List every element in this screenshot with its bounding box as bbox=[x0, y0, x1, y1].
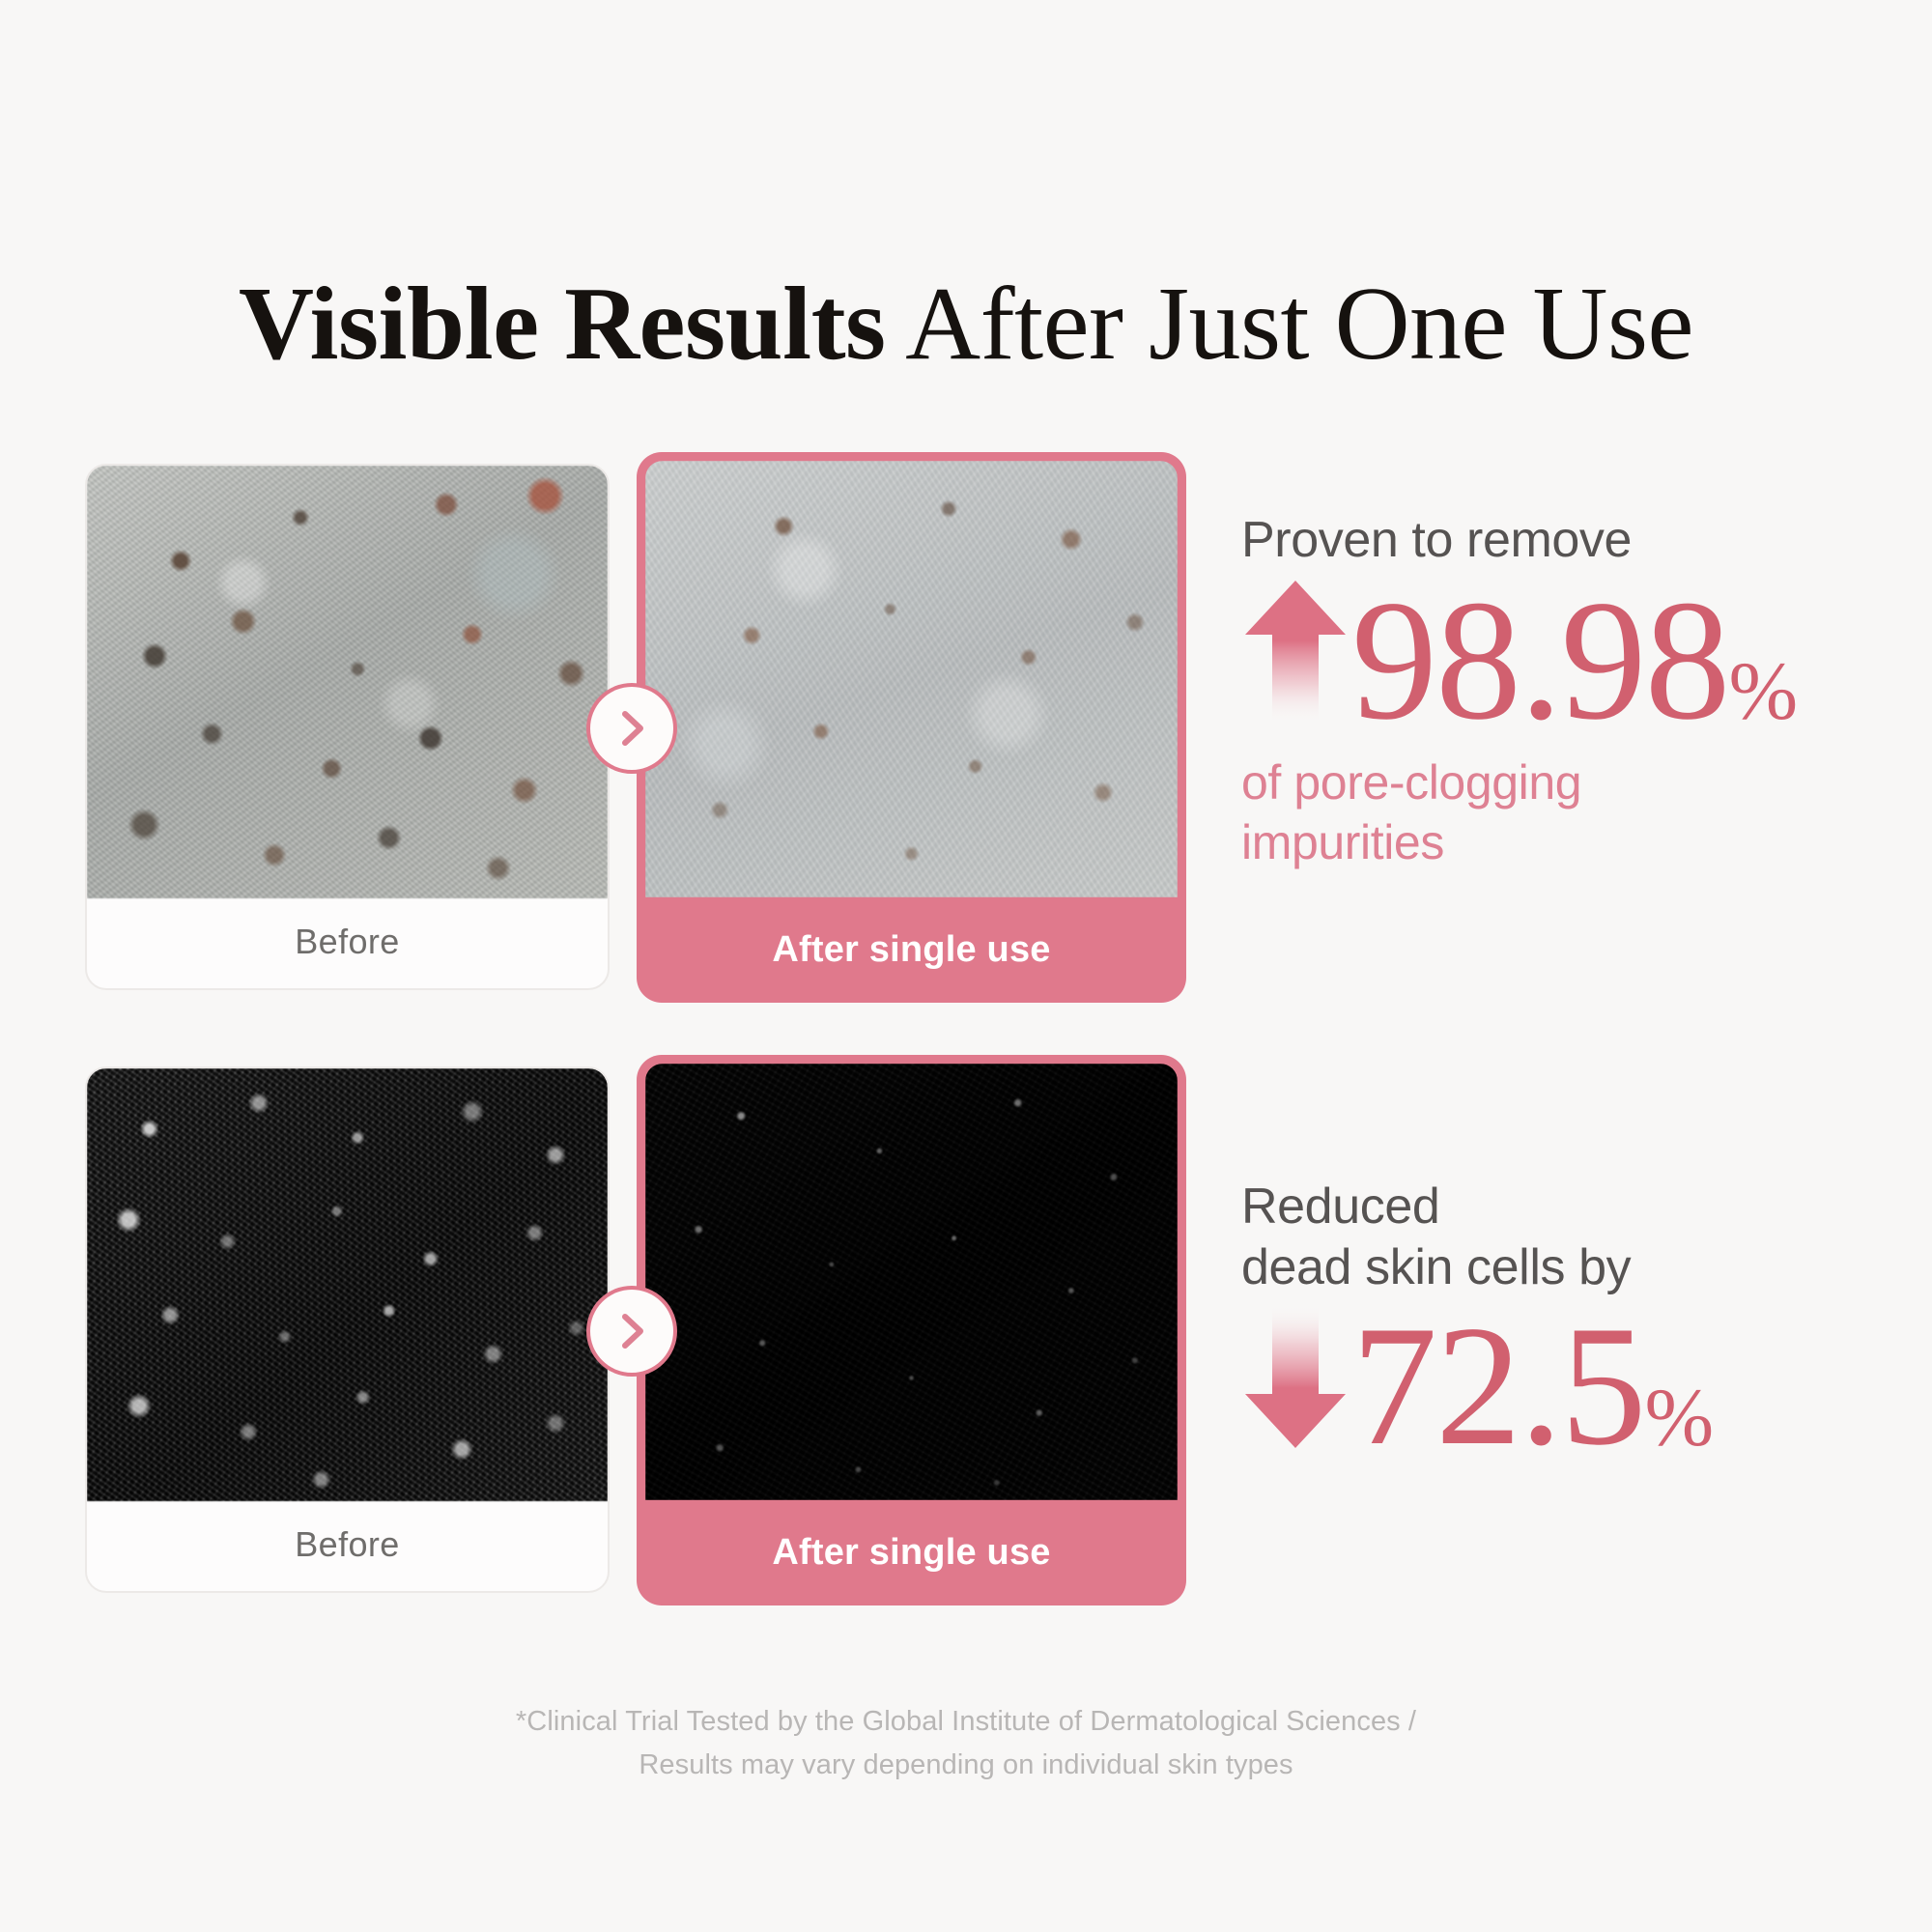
stat-block-remove-impurities: Proven to remove 98.98 % of pore-cloggin… bbox=[1241, 510, 1918, 872]
stat-block-reduce-dead-skin: Reduced dead skin cells by 72.5 % bbox=[1241, 1177, 1918, 1465]
before-card-1: Before bbox=[85, 464, 610, 990]
footnote: *Clinical Trial Tested by the Global Ins… bbox=[0, 1700, 1932, 1787]
stat-1-subtext-line-1: of pore-clogging bbox=[1241, 753, 1918, 812]
stat-2-headline-line-1: Reduced bbox=[1241, 1177, 1918, 1237]
before-label-1: Before bbox=[87, 895, 608, 988]
before-image-2 bbox=[87, 1068, 608, 1501]
arrow-up-icon bbox=[1241, 577, 1350, 724]
after-image-2 bbox=[645, 1064, 1178, 1500]
page-title-strong: Visible Results bbox=[239, 267, 886, 382]
arrow-down-icon bbox=[1241, 1305, 1350, 1452]
stat-1-subtext: of pore-clogging impurities bbox=[1241, 753, 1918, 872]
footnote-line-2: Results may vary depending on individual… bbox=[0, 1744, 1932, 1787]
chevron-right-icon[interactable] bbox=[586, 683, 677, 774]
microscopy-texture-before-2 bbox=[87, 1068, 608, 1501]
after-card-1: After single use bbox=[637, 452, 1186, 1003]
after-image-1 bbox=[645, 461, 1178, 897]
stat-1-value: 98.98 bbox=[1351, 582, 1729, 740]
stat-1-unit: % bbox=[1729, 642, 1798, 739]
stat-2-figure: 72.5 % bbox=[1241, 1305, 1918, 1465]
stat-1-figure: 98.98 % bbox=[1241, 577, 1918, 739]
comparison-row-2: Before After single use bbox=[85, 1055, 1186, 1605]
after-label-1: After single use bbox=[637, 897, 1186, 1003]
before-card-2: Before bbox=[85, 1066, 610, 1593]
after-card-2: After single use bbox=[637, 1055, 1186, 1605]
page-title: Visible Results After Just One Use bbox=[0, 268, 1932, 383]
page-title-light: After Just One Use bbox=[886, 267, 1693, 382]
after-label-2: After single use bbox=[637, 1500, 1186, 1605]
stat-1-headline: Proven to remove bbox=[1241, 510, 1918, 571]
microscopy-texture-after-2 bbox=[645, 1064, 1178, 1500]
comparison-row-1: Before After single use bbox=[85, 452, 1186, 1003]
footnote-line-1: *Clinical Trial Tested by the Global Ins… bbox=[0, 1700, 1932, 1744]
infographic-page: Visible Results After Just One Use Befor… bbox=[0, 0, 1932, 1932]
skin-texture-before-1 bbox=[87, 466, 608, 898]
stat-2-headline: Reduced dead skin cells by bbox=[1241, 1177, 1918, 1299]
chevron-right-icon[interactable] bbox=[586, 1286, 677, 1377]
before-label-2: Before bbox=[87, 1497, 608, 1591]
stat-2-value: 72.5 bbox=[1351, 1307, 1645, 1465]
skin-texture-after-1 bbox=[645, 461, 1178, 897]
stat-1-subtext-line-2: impurities bbox=[1241, 812, 1918, 872]
stat-2-unit: % bbox=[1645, 1369, 1714, 1465]
before-image-1 bbox=[87, 466, 608, 898]
